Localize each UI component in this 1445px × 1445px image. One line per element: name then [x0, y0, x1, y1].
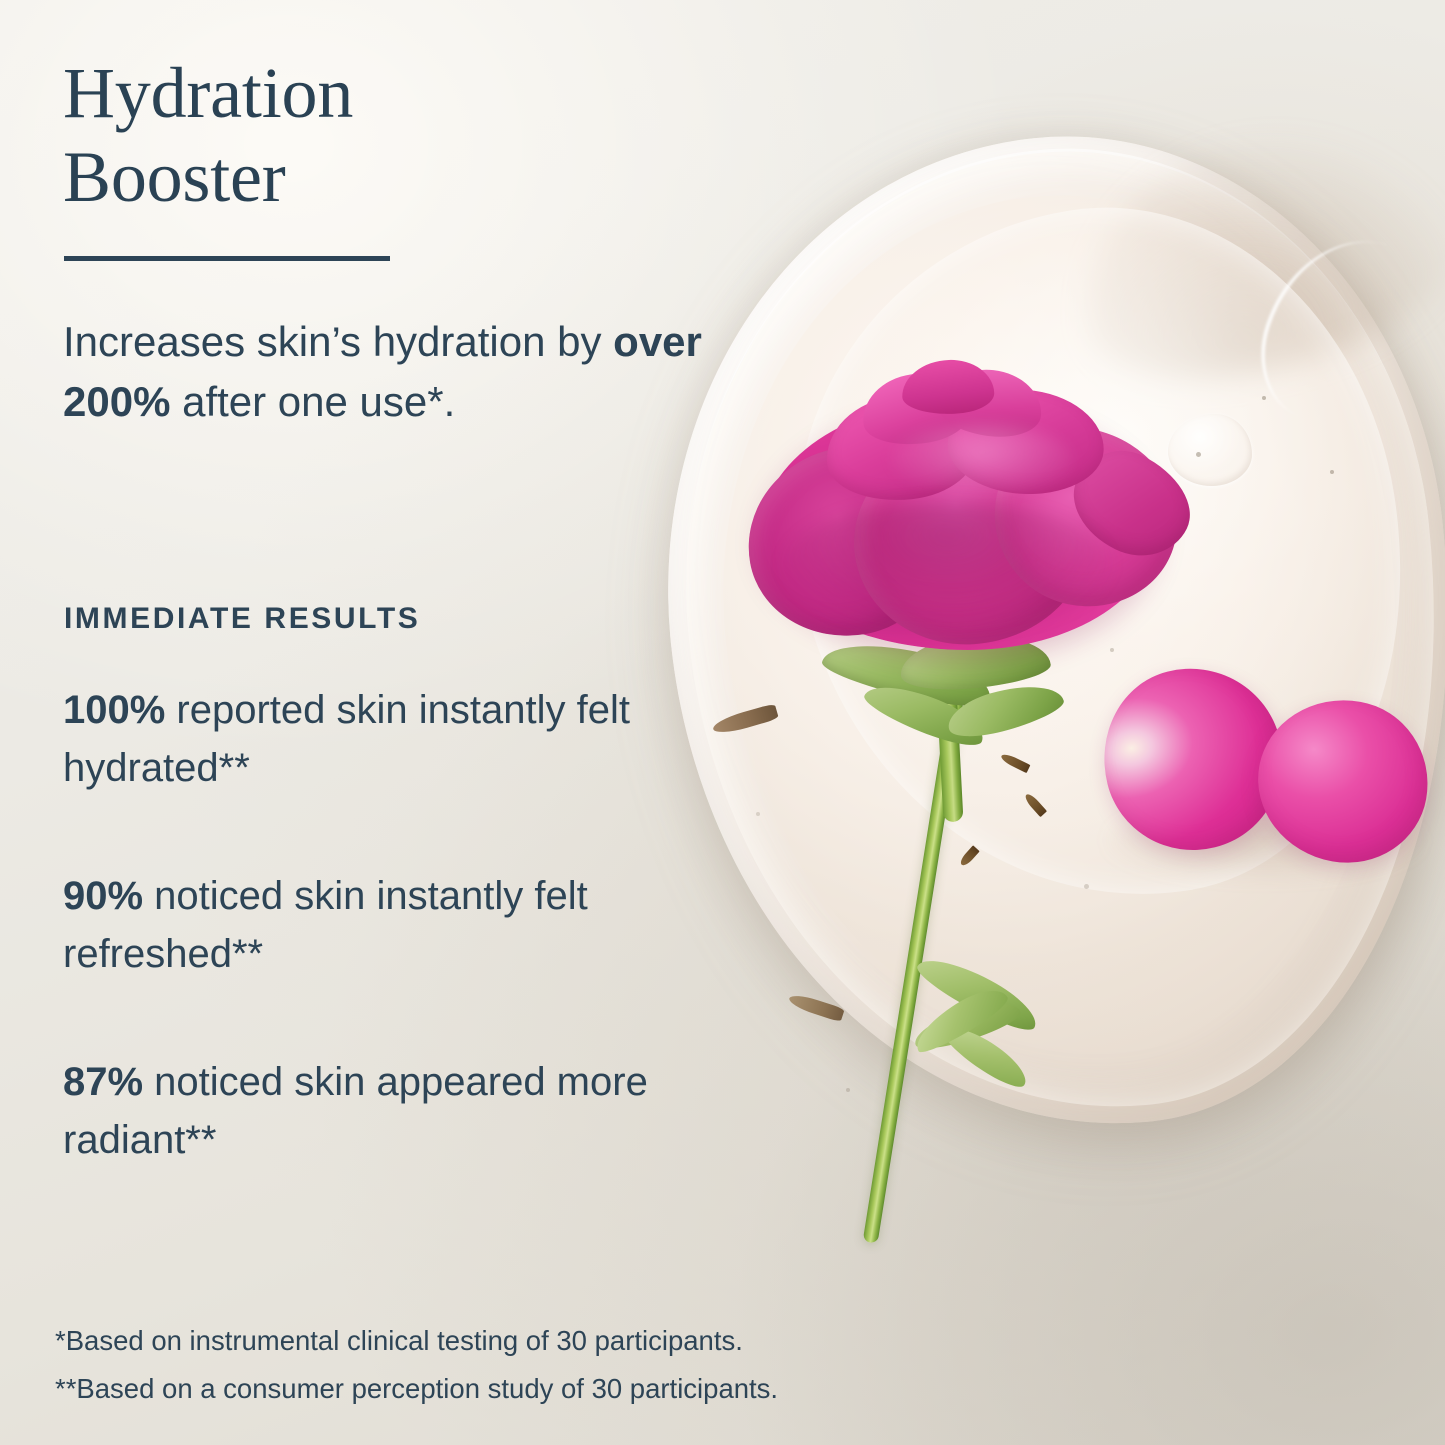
result-stat-1: 100% reported skin instantly felt hydrat…	[63, 682, 743, 797]
result-stat-2-value: 90%	[63, 874, 143, 918]
page-title-line-1: Hydration	[63, 53, 353, 133]
hydration-claim: Increases skin’s hydration by over 200% …	[63, 312, 783, 431]
footnote-double-asterisk: **Based on a consumer perception study o…	[55, 1375, 1055, 1403]
footnote-single-asterisk: *Based on instrumental clinical testing …	[55, 1327, 1055, 1355]
results-kicker: IMMEDIATE RESULTS	[64, 602, 420, 636]
result-stat-3: 87% noticed skin appeared more radiant**	[63, 1054, 743, 1169]
product-claim-poster: Hydration Booster Increases skin’s hydra…	[0, 0, 1445, 1445]
title-divider	[64, 256, 390, 261]
result-stat-2: 90% noticed skin instantly felt refreshe…	[63, 868, 743, 983]
text-layer: Hydration Booster Increases skin’s hydra…	[0, 0, 1445, 1445]
result-stat-1-value: 100%	[63, 688, 165, 732]
hydration-claim-part1: Increases skin’s hydration by	[63, 318, 613, 365]
result-stat-3-value: 87%	[63, 1060, 143, 1104]
page-title: Hydration Booster	[63, 52, 703, 219]
hydration-claim-part2: after one use*.	[170, 378, 455, 425]
result-stat-3-text: noticed skin appeared more radiant**	[63, 1060, 648, 1162]
page-title-line-2: Booster	[63, 137, 286, 217]
